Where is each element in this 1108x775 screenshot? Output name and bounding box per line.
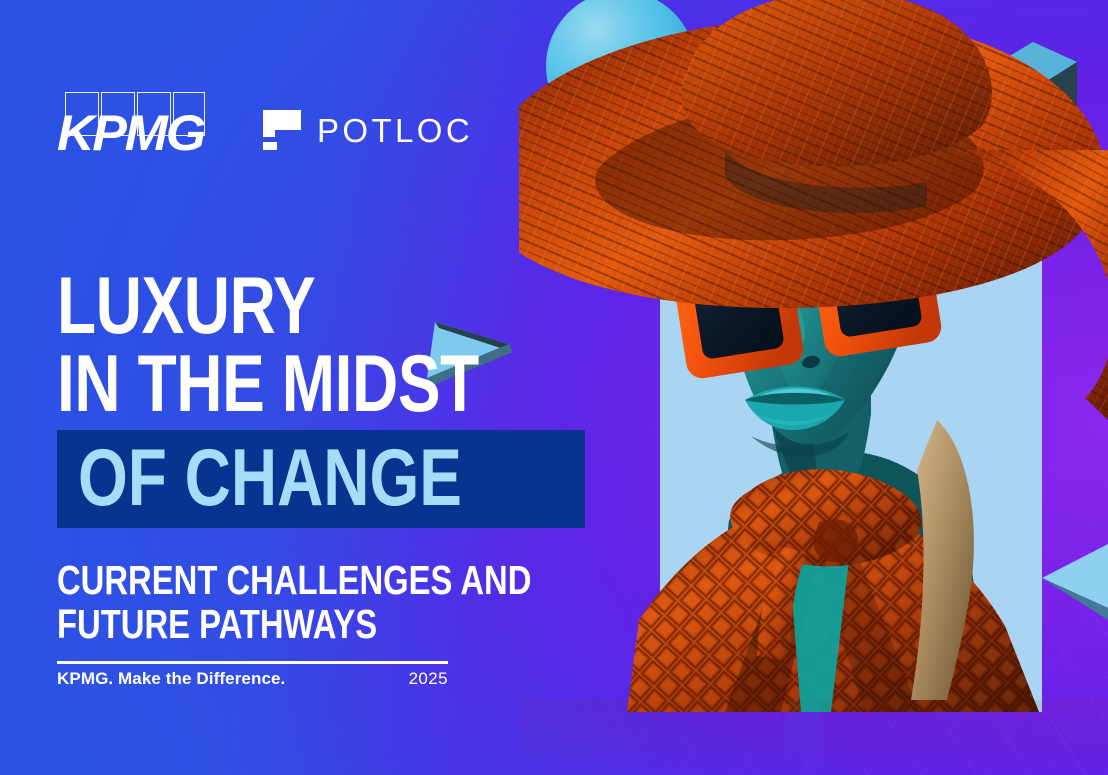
artwork-fade-shape <box>519 700 1108 775</box>
page-title: LUXURY IN THE MIDST OF CHANGE <box>57 272 477 528</box>
footer: KPMG. Make the Difference. 2025 <box>57 669 448 689</box>
potloc-flag-icon <box>263 110 301 150</box>
footer-year: 2025 <box>409 669 448 689</box>
portrait-illustration <box>519 0 1108 712</box>
potloc-logo: POTLOC <box>263 110 473 154</box>
potloc-wordmark: POTLOC <box>317 114 473 147</box>
footer-tagline: KPMG. Make the Difference. <box>57 669 285 689</box>
cover-content: KPMG POTLOC LUXURY IN THE MIDST OF CHANG… <box>57 0 477 775</box>
headline-line-3: OF CHANGE <box>78 445 462 512</box>
potloc-mark-icon <box>263 110 301 150</box>
artwork-bottom-fade <box>519 700 1108 775</box>
kpmg-wordmark: KPMG <box>57 108 204 158</box>
subtitle-line-2: FUTURE PATHWAYS <box>57 602 393 646</box>
fashion-portrait <box>519 0 1108 712</box>
page-subtitle: CURRENT CHALLENGES AND FUTURE PATHWAYS <box>57 558 393 647</box>
kpmg-logo: KPMG <box>57 92 209 154</box>
subtitle-line-1: CURRENT CHALLENGES AND <box>57 557 531 603</box>
report-cover-page: KPMG POTLOC LUXURY IN THE MIDST OF CHANG… <box>0 0 1108 775</box>
logo-row: KPMG POTLOC <box>57 92 473 154</box>
headline-line-2: IN THE MIDST <box>57 350 389 418</box>
footer-divider <box>57 661 448 664</box>
headline-line-1: LUXURY <box>57 272 389 340</box>
headline-highlight-box: OF CHANGE <box>57 430 585 528</box>
